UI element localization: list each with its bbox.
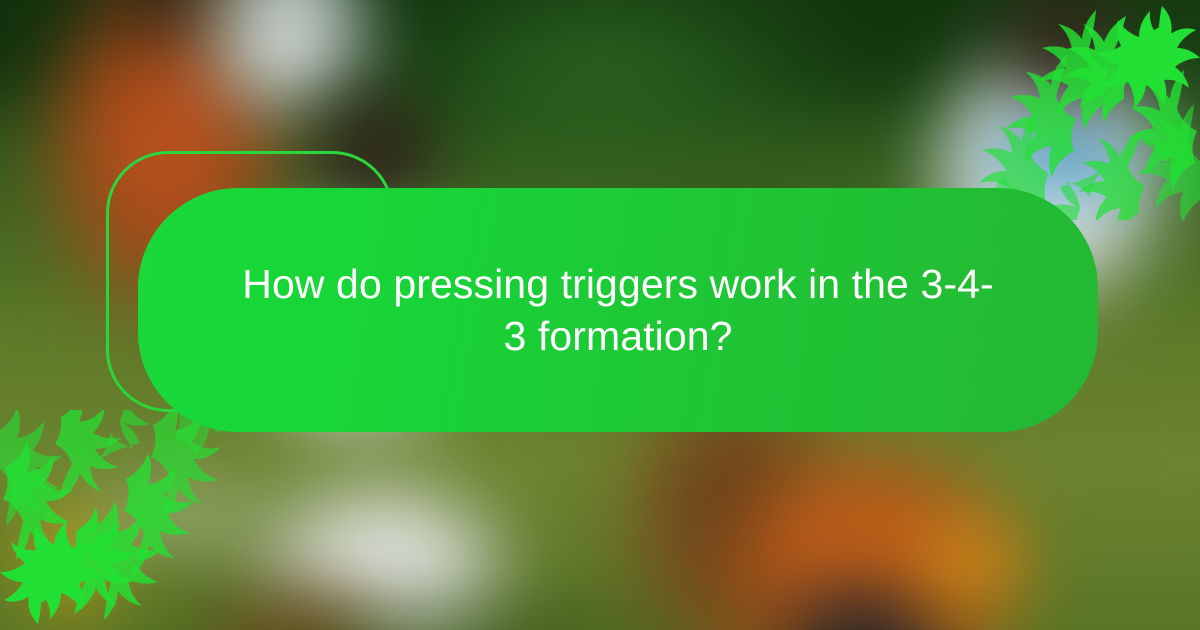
- question-card: How do pressing triggers work in the 3-4…: [138, 188, 1098, 432]
- quote-card-graphic: How do pressing triggers work in the 3-4…: [0, 0, 1200, 630]
- question-text: How do pressing triggers work in the 3-4…: [238, 258, 998, 363]
